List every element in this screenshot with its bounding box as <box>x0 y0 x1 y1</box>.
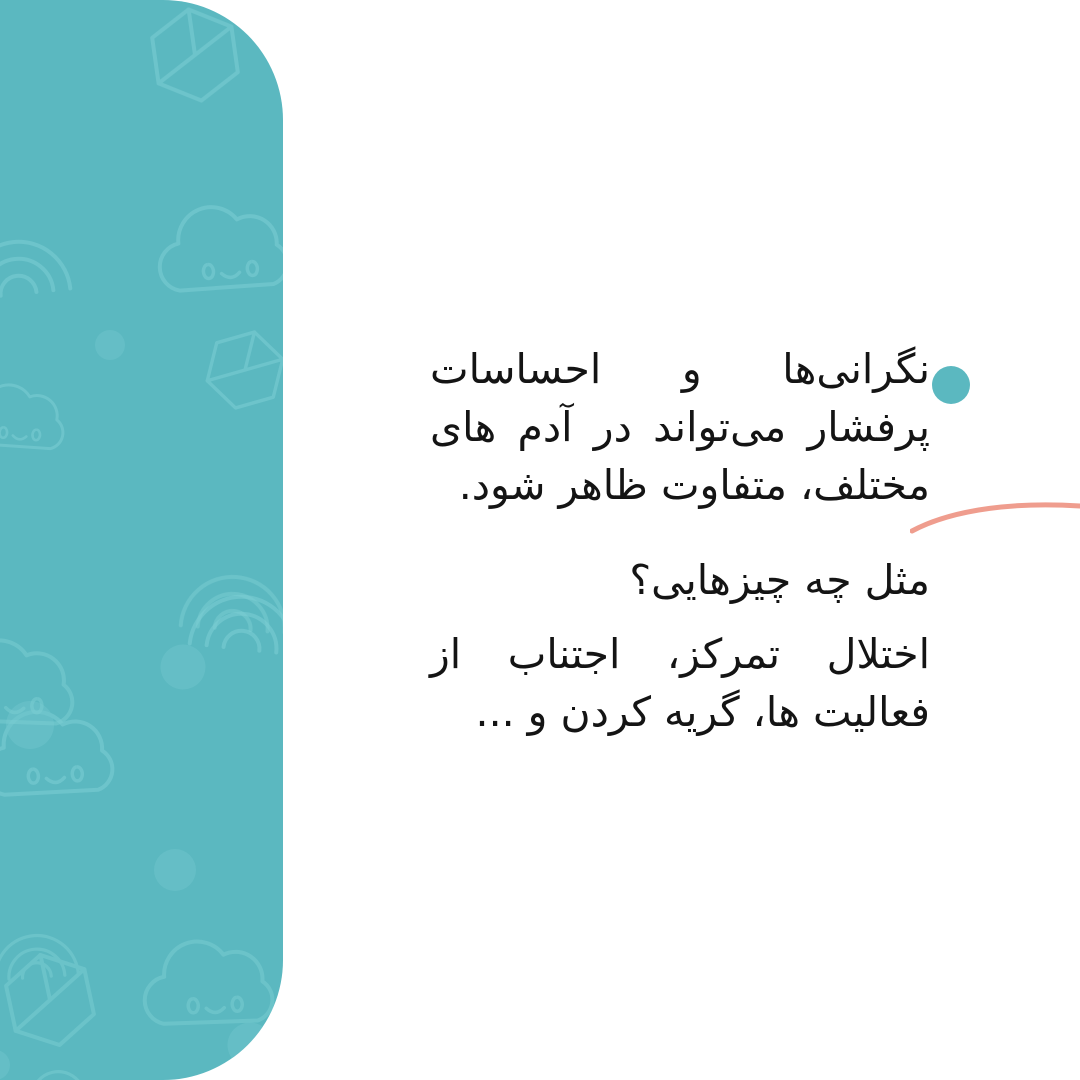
slide-canvas: نگرانی‌ها و احساسات پرفشار می‌تواند در آ… <box>0 0 1080 1080</box>
teal-decorative-panel <box>0 0 283 1080</box>
paragraph-examples: اختلال تمرکز، اجتناب از فعالیت ها، گریه … <box>430 625 930 741</box>
paragraph-question: مثل چه چیزهایی؟ <box>430 551 930 609</box>
paragraph-intro: نگرانی‌ها و احساسات پرفشار می‌تواند در آ… <box>430 340 930 515</box>
bullet-dot-icon <box>932 366 970 404</box>
text-content: نگرانی‌ها و احساسات پرفشار می‌تواند در آ… <box>430 340 930 741</box>
paragraph-block-1: نگرانی‌ها و احساسات پرفشار می‌تواند در آ… <box>430 340 930 515</box>
coral-curve-accent <box>910 488 1080 548</box>
doodle-pattern <box>0 0 283 1080</box>
